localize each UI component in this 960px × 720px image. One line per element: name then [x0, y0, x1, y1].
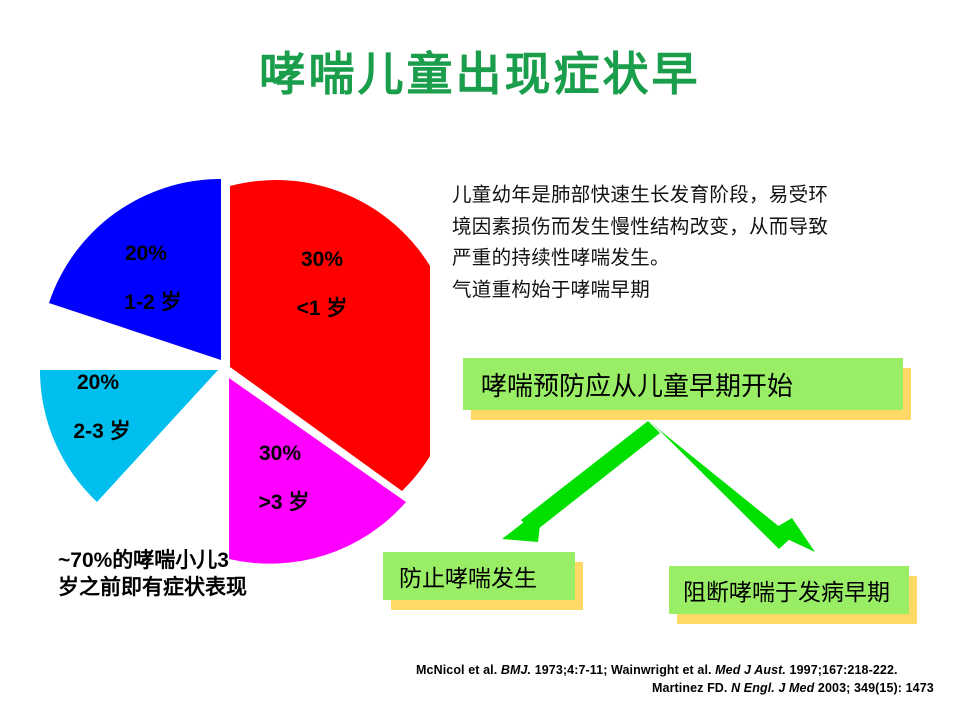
citation-1-author: McNicol et al.: [416, 663, 501, 677]
citation-1-detail: 1973;4:7-11; Wainwright et al.: [531, 663, 715, 677]
paragraph-line-3: 严重的持续性哮喘发生。: [452, 243, 930, 275]
citation-2-journal: N Engl. J Med: [731, 681, 814, 695]
arrow-right-down: [648, 421, 815, 552]
pie-caption-line-1: ~70%的哮喘小儿3: [58, 548, 368, 575]
page-title: 哮喘儿童出现症状早: [0, 48, 960, 101]
callout-main-face: 哮喘预防应从儿童早期开始: [463, 358, 903, 410]
callout-box-left: 防止哮喘发生: [383, 552, 575, 600]
callout-right-face: 阻断哮喘于发病早期: [669, 566, 909, 614]
slide-canvas: 哮喘儿童出现症状早 30% <1 岁 20% 1-2 岁 20% 2-3 岁 3…: [0, 0, 960, 720]
callout-left-face: 防止哮喘发生: [383, 552, 575, 600]
pie-label-1to2-percent: 20%: [125, 242, 167, 265]
pie-label-2to3-category: 2-3 岁: [73, 419, 130, 443]
paragraph-line-1: 儿童幼年是肺部快速生长发育阶段，易受环: [452, 180, 930, 212]
arrow-group-svg: [480, 415, 880, 565]
paragraph-line-2: 境因素损伤而发生慢性结构改变，从而导致: [452, 212, 930, 244]
pie-caption-line-2: 岁之前即有症状表现: [58, 575, 368, 602]
pie-label-2to3-percent: 20%: [77, 371, 119, 394]
citation-1-journal: BMJ.: [501, 663, 531, 677]
citation-line-2: Martinez FD. N Engl. J Med 2003; 349(15)…: [652, 681, 934, 695]
citation-2-author: Martinez FD.: [652, 681, 731, 695]
paragraph-line-4: 气道重构始于哮喘早期: [452, 275, 930, 307]
pie-label-1to2-category: 1-2 岁: [124, 290, 181, 314]
callout-box-right: 阻断哮喘于发病早期: [669, 566, 909, 614]
body-paragraph: 儿童幼年是肺部快速生长发育阶段，易受环 境因素损伤而发生慢性结构改变，从而导致 …: [452, 180, 930, 306]
pie-label-under1-category: <1 岁: [297, 296, 348, 320]
pie-label-over3-percent: 30%: [259, 442, 301, 465]
pie-slice-1to2: [49, 179, 221, 360]
pie-caption: ~70%的哮喘小儿3 岁之前即有症状表现: [58, 548, 368, 602]
pie-chart-svg: 30% <1 岁 20% 1-2 岁 20% 2-3 岁 30% >3 岁: [40, 170, 430, 570]
callout-left-label: 防止哮喘发生: [399, 559, 537, 593]
arrow-group: [480, 415, 880, 565]
arrow-left-down: [502, 421, 660, 542]
citation-line-1: McNicol et al. BMJ. 1973;4:7-11; Wainwri…: [416, 663, 898, 677]
pie-chart: 30% <1 岁 20% 1-2 岁 20% 2-3 岁 30% >3 岁: [40, 170, 430, 570]
citation-1-journal-2: Med J Aust.: [715, 663, 786, 677]
citation-1-detail-2: 1997;167:218-222.: [786, 663, 898, 677]
callout-main-label: 哮喘预防应从儿童早期开始: [481, 366, 793, 403]
pie-label-under1-percent: 30%: [301, 248, 343, 271]
callout-box-main: 哮喘预防应从儿童早期开始: [463, 358, 903, 410]
callout-right-label: 阻断哮喘于发病早期: [683, 573, 890, 607]
pie-label-over3-category: >3 岁: [259, 490, 310, 514]
citation-2-detail: 2003; 349(15): 1473: [814, 681, 933, 695]
